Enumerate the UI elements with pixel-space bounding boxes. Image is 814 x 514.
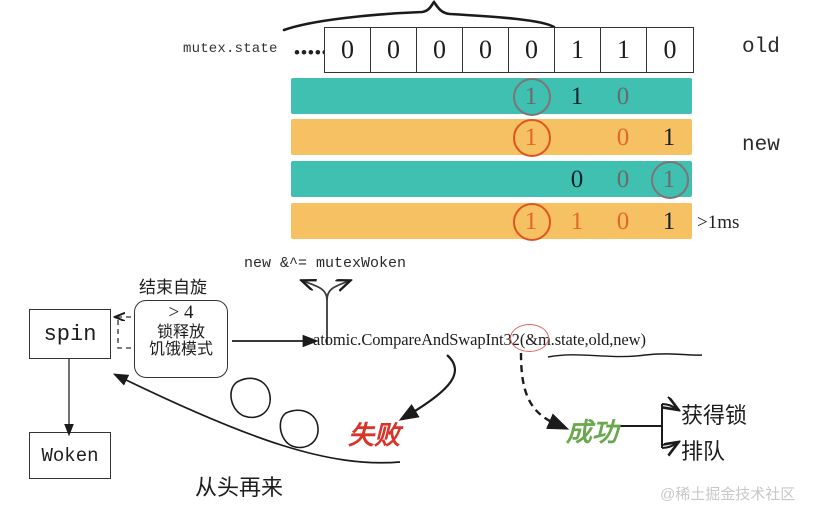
cas-call-text: atomic.CompareAndSwapInt32(&m.state,old,…: [313, 330, 646, 350]
retry-label: 从头再来: [195, 470, 283, 502]
fail-label: 失败: [348, 415, 400, 452]
success-label: 成功: [566, 412, 618, 449]
circle-old-arg: [510, 324, 549, 352]
annotation-new-andnot-mutexwoken: new &^= mutexWoken: [244, 255, 406, 272]
success-branch-acquire-lock: 获得锁: [681, 398, 747, 430]
cas-call-label: atomic.CompareAndSwapInt32(&m.state,old,…: [313, 330, 646, 349]
diagram-canvas: mutex.state •••••• 00000110 110 101 001 …: [0, 0, 814, 514]
watermark: @稀土掘金技术社区: [660, 483, 795, 504]
success-branch-queue: 排队: [681, 434, 725, 466]
